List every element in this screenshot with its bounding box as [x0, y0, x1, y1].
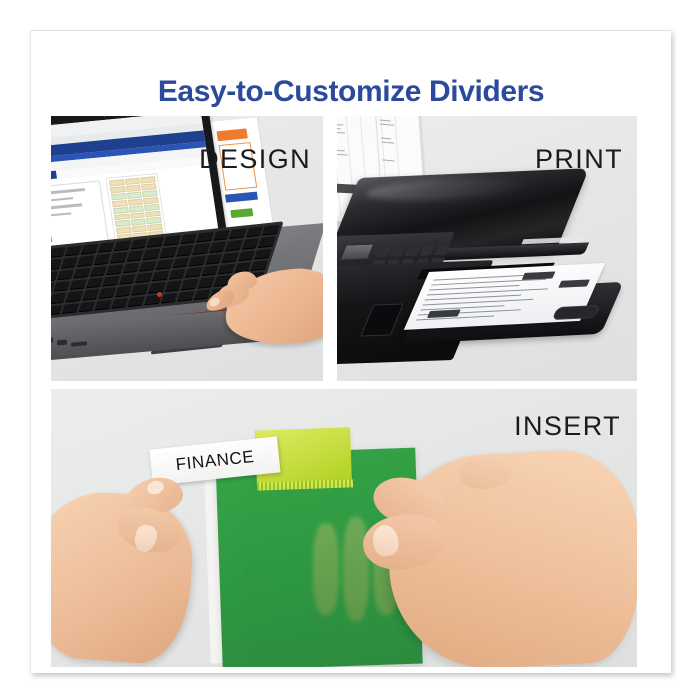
preview-blue-bar: [225, 192, 258, 203]
page-title: Easy-to-Customize Dividers: [31, 75, 671, 109]
product-image-card: Easy-to-Customize Dividers: [30, 30, 671, 673]
form-checkbox: [51, 236, 52, 243]
printed-divider-sheet: [404, 263, 605, 330]
left-hand: [51, 469, 221, 667]
hand-on-keyboard: [191, 256, 323, 351]
panel-label-design: DESIGN: [199, 144, 311, 175]
preview-green-button: [230, 208, 253, 218]
panel-insert[interactable]: FINANCE INSERT: [51, 389, 637, 667]
screenshot-root: Easy-to-Customize Dividers: [0, 0, 700, 700]
webcam-icon: [103, 116, 106, 117]
panel-label-insert: INSERT: [514, 411, 621, 442]
panel-print[interactable]: PRINT: [337, 116, 637, 381]
panel-design[interactable]: DESIGN: [51, 116, 323, 381]
right-hand: [351, 419, 637, 667]
laptop-port: [57, 340, 67, 346]
preview-orange-header: [216, 128, 247, 141]
panel-label-print: PRINT: [535, 144, 623, 175]
